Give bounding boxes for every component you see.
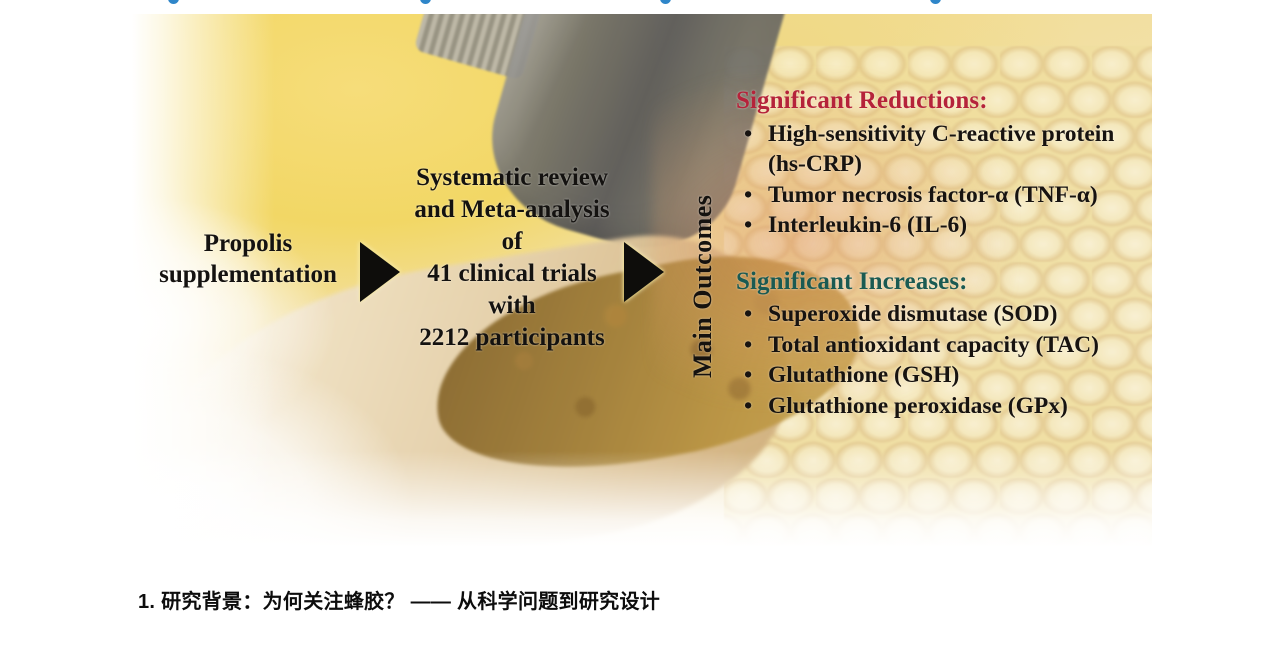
bullet-icon: • [744,360,752,391]
bullet-icon: • [744,180,752,211]
method-line-6: 2212 participants [388,322,636,354]
increase-item-text: Glutathione peroxidase (GPx) [768,393,1068,419]
significant-reductions-heading: Significant Reductions: [736,86,1152,116]
journal-logo-icon-1 [168,0,179,4]
intervention-line-2: supplementation [134,260,362,291]
journal-header-text-2: SCIENTIFIC TECHNICAL JOURNAL [438,0,627,3]
flow-step-intervention: Propolis supplementation [134,229,362,290]
list-item: •Interleukin-6 (IL-6) [736,210,1152,241]
panel-spacer [736,241,1152,267]
list-item: •High-sensitivity C-reactive protein (hs… [736,119,1152,180]
bullet-icon: • [744,391,752,422]
journal-header-text-1: SCIENTIFIC TECHNICAL JOURNAL [186,0,375,3]
journal-logo-icon-4 [930,0,941,4]
journal-header-text-3: SCIENTIFIC TECHNICAL JOURNAL [678,0,867,3]
method-line-1: Systematic review [388,162,636,194]
outcomes-panel: Significant Reductions: •High-sensitivit… [736,86,1152,421]
main-outcomes-vertical-label: Main Outcomes [684,166,722,406]
cut-off-journal-header-strip: SCIENTIFIC TECHNICAL JOURNAL SCIENTIFIC … [0,0,1281,14]
method-line-3: of [388,226,636,258]
bullet-icon: • [744,119,752,150]
journal-logo-icon-3 [660,0,671,4]
significant-reductions-list: •High-sensitivity C-reactive protein (hs… [736,119,1152,241]
list-item: •Tumor necrosis factor-α (TNF-α) [736,180,1152,211]
bullet-icon: • [744,299,752,330]
increase-item-text: Glutathione (GSH) [768,362,959,388]
increase-item-text: Superoxide dismutase (SOD) [768,301,1057,327]
list-item: •Total antioxidant capacity (TAC) [736,330,1152,361]
list-item: •Glutathione peroxidase (GPx) [736,391,1152,422]
journal-logo-icon-2 [420,0,431,4]
method-line-5: with [388,290,636,322]
section-caption: 1. 研究背景：为何关注蜂胶？ —— 从科学问题到研究设计 [138,585,660,614]
flow-step-method: Systematic review and Meta-analysis of 4… [388,162,636,354]
graphical-abstract-figure: Propolis supplementation Systematic revi… [132,14,1152,547]
method-line-4: 41 clinical trials [388,258,636,290]
method-line-2: and Meta-analysis [388,194,636,226]
journal-header-text-4: SCIENTIFIC TECHNICAL JOURNAL [948,0,1137,3]
reduction-item-text: Tumor necrosis factor-α (TNF-α) [768,182,1098,208]
intervention-line-1: Propolis [134,229,362,260]
list-item: •Glutathione (GSH) [736,360,1152,391]
bullet-icon: • [744,210,752,241]
reduction-item-text: Interleukin-6 (IL-6) [768,212,967,238]
increase-item-text: Total antioxidant capacity (TAC) [768,332,1099,358]
significant-increases-list: •Superoxide dismutase (SOD) •Total antio… [736,299,1152,421]
flow-arrow-right-icon-2 [624,242,664,302]
bullet-icon: • [744,330,752,361]
significant-increases-heading: Significant Increases: [736,267,1152,297]
reduction-item-text: High-sensitivity C-reactive protein (hs-… [768,121,1114,178]
list-item: •Superoxide dismutase (SOD) [736,299,1152,330]
